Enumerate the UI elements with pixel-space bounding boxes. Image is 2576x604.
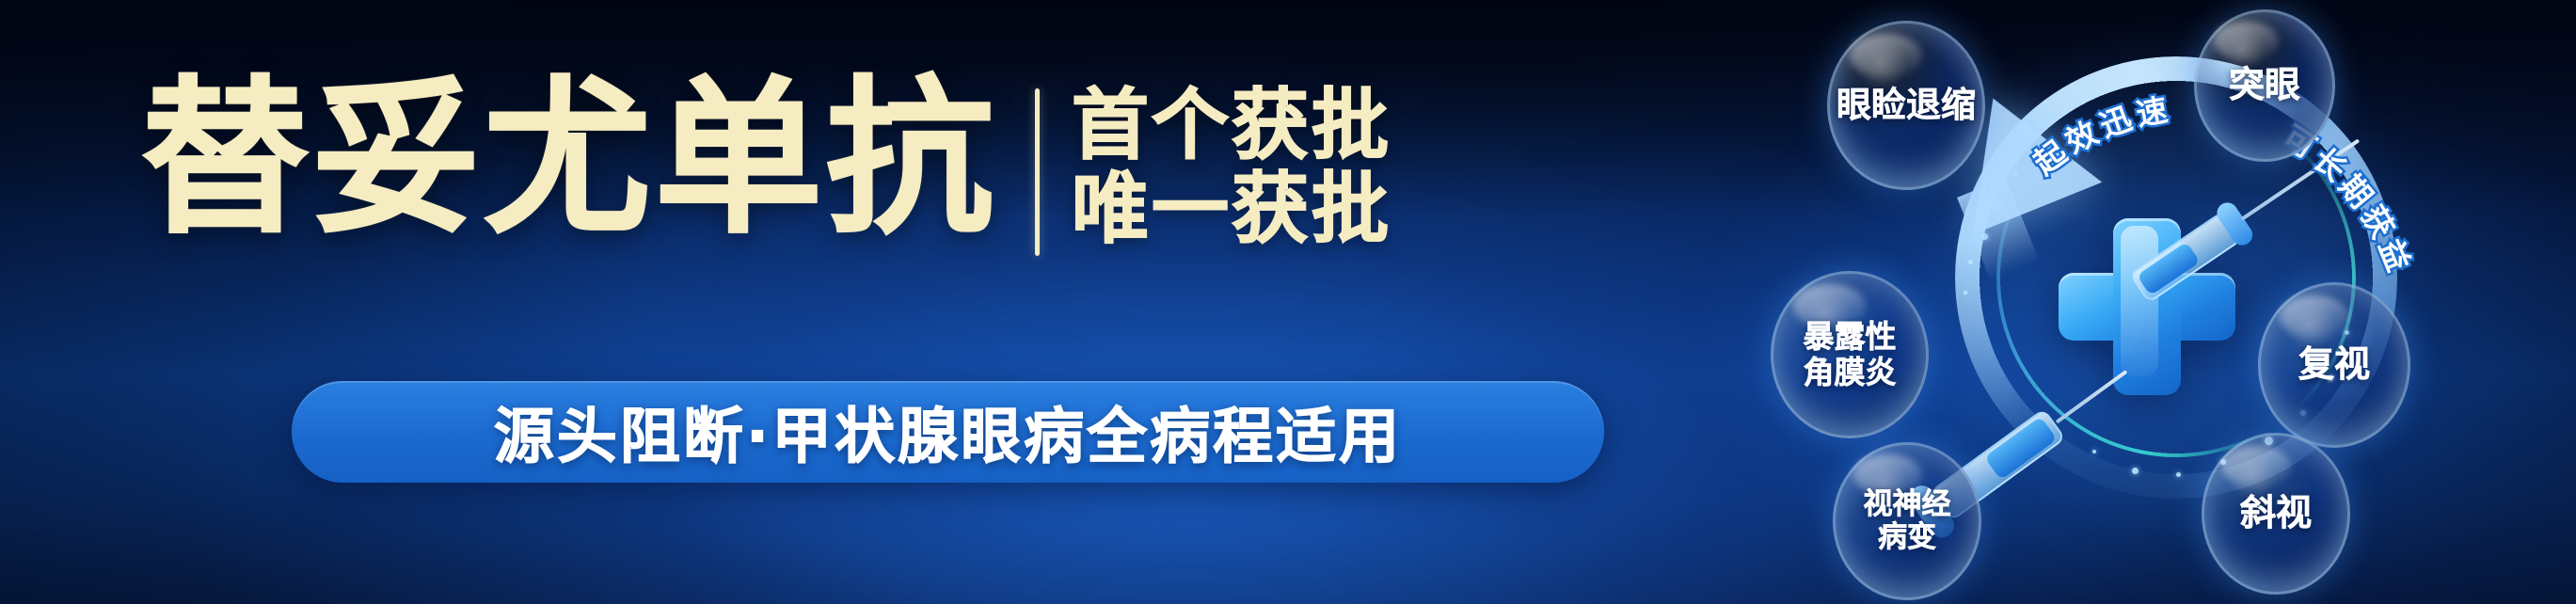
claim-only-approved: 唯一获批 — [1072, 168, 1391, 252]
claim-first-approved: 首个获批 — [1072, 85, 1391, 168]
indication-label-optic-neuropathy: 视神经 病变 — [1864, 488, 1951, 555]
product-name-title: 替妥尤单抗 — [141, 73, 997, 245]
indication-label-proptosis: 突眼 — [2229, 65, 2300, 105]
indication-bubble-proptosis[interactable]: 突眼 — [2194, 9, 2335, 162]
indication-bubble-strabismus[interactable]: 斜视 — [2202, 433, 2350, 595]
vertical-divider — [1035, 88, 1040, 256]
indication-bubble-diplopia[interactable]: 复视 — [2258, 282, 2410, 448]
indication-label-strabismus: 斜视 — [2240, 493, 2312, 533]
tagline-text: 源头阻断·甲状腺眼病全病程适用 — [494, 389, 1402, 475]
indication-label-exposure-keratitis: 暴露性 角膜炎 — [1804, 319, 1897, 389]
indication-label-eyelid-retraction: 眼睑退缩 — [1837, 86, 1976, 125]
headline-row: 替妥尤单抗 首个获批 唯一获批 — [141, 73, 1609, 256]
claims-stack: 首个获批 唯一获批 — [1072, 73, 1391, 251]
indication-bubble-eyelid-retraction[interactable]: 眼睑退缩 — [1827, 21, 1985, 190]
product-graphic: 起效迅速 可长期获益 眼睑退缩 突眼 暴露性 角膜炎 复视 视神经 病变 — [1788, 0, 2576, 604]
indication-bubble-optic-neuropathy[interactable]: 视神经 病变 — [1833, 442, 1981, 600]
pharma-banner: 替妥尤单抗 首个获批 唯一获批 源头阻断·甲状腺眼病全病程适用 — [0, 0, 2576, 604]
indication-bubble-exposure-keratitis[interactable]: 暴露性 角膜炎 — [1771, 271, 1929, 438]
indication-label-diplopia: 复视 — [2298, 344, 2370, 385]
tagline-pill[interactable]: 源头阻断·甲状腺眼病全病程适用 — [292, 381, 1604, 483]
